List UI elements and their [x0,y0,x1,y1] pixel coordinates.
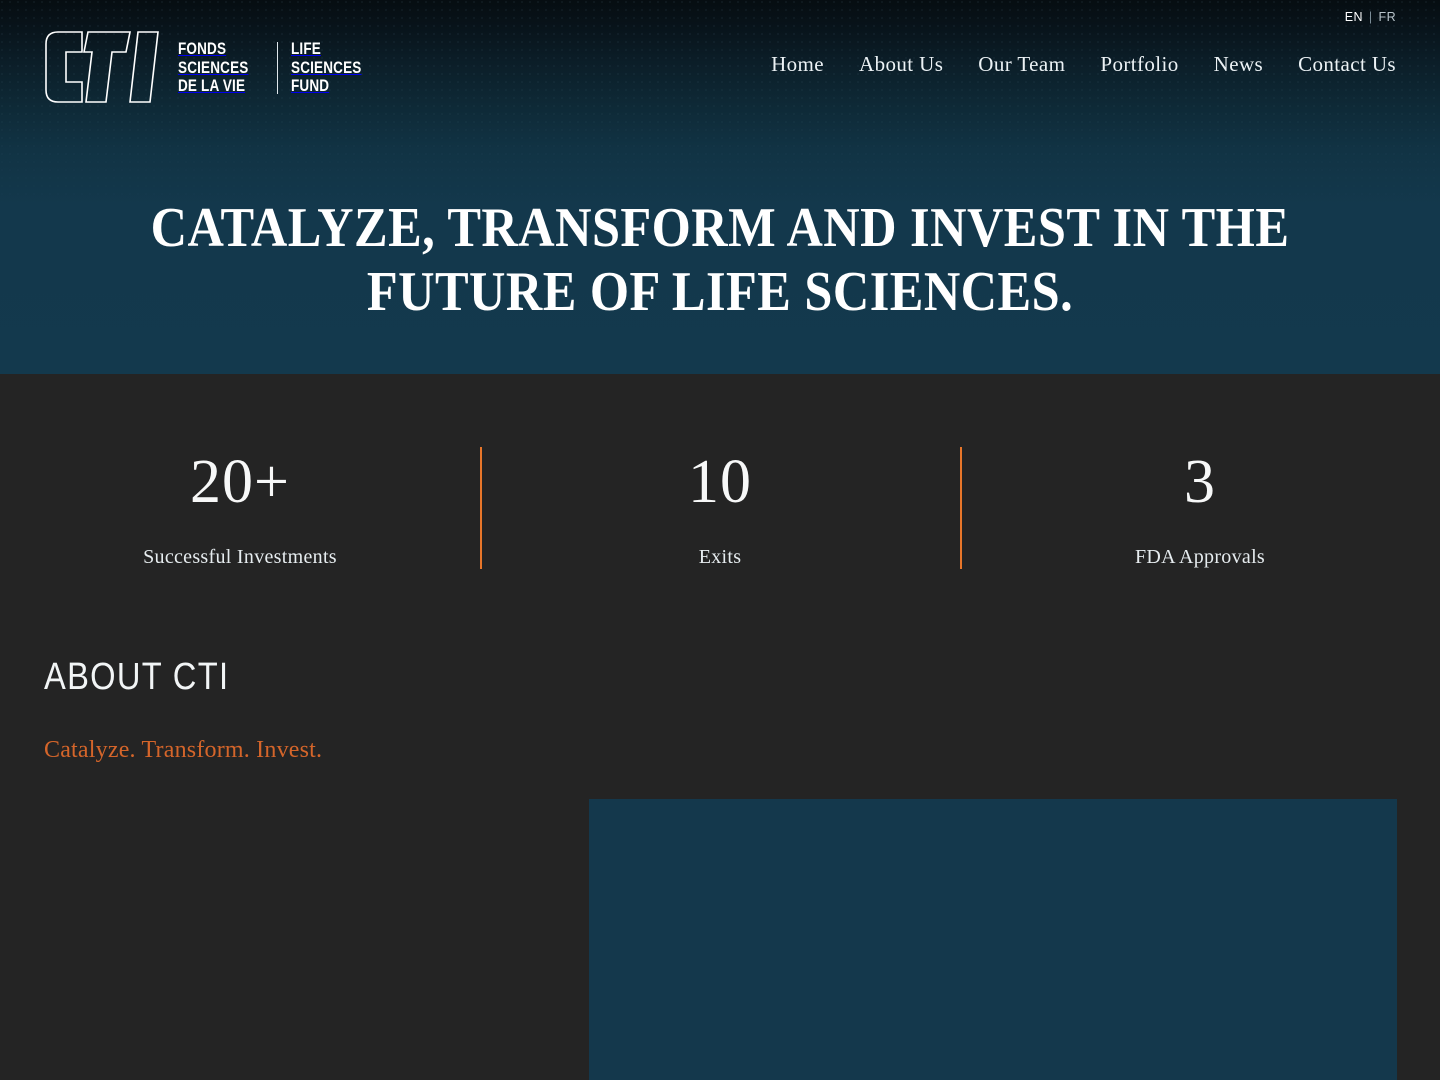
logo-en-line-3: FUND [291,77,361,95]
stat-item-exits: 10 Exits [480,447,960,569]
stat-item-fda-approvals: 3 FDA Approvals [960,447,1440,569]
nav-item-about-us[interactable]: About Us [859,52,943,77]
lang-option-fr[interactable]: FR [1379,10,1396,24]
nav-item-our-team[interactable]: Our Team [978,52,1065,77]
stat-value: 20+ [190,451,290,513]
language-switcher[interactable]: EN | FR [1345,10,1396,24]
logo-wordmark-fr: FONDS SCIENCES DE LA VIE [178,40,248,95]
logo-divider [277,42,278,93]
cti-outline-monogram-icon [44,30,166,104]
about-media-panel [589,799,1397,1080]
stat-value: 10 [688,451,752,513]
logo-wordmark-en: LIFE SCIENCES FUND [291,40,361,95]
lang-option-en[interactable]: EN [1345,10,1363,24]
logo-fr-line-3: DE LA VIE [178,77,248,95]
hero-headline: CATALYZE, TRANSFORM AND INVEST IN THE FU… [72,196,1368,324]
lang-separator: | [1369,10,1373,24]
stat-label: Successful Investments [143,546,337,569]
stats-section: 20+ Successful Investments 10 Exits 3 FD… [0,374,1440,642]
hero-section: EN | FR FONDS SCIENCES [0,0,1440,374]
about-heading: ABOUT CTI [44,658,229,696]
about-section: ABOUT CTI Catalyze. Transform. Invest. [0,642,1440,1080]
nav-item-portfolio[interactable]: Portfolio [1100,52,1178,77]
main-navigation: Home About Us Our Team Portfolio News Co… [771,52,1396,77]
page-root: EN | FR FONDS SCIENCES [0,0,1440,1080]
hero-headline-line-2: FUTURE OF LIFE SCIENCES. [72,260,1368,324]
about-tagline: Catalyze. Transform. Invest. [44,737,322,764]
logo-fr-line-2: SCIENCES [178,59,248,77]
logo-wordmark: FONDS SCIENCES DE LA VIE LIFE SCIENCES F… [178,40,377,95]
site-logo[interactable]: FONDS SCIENCES DE LA VIE LIFE SCIENCES F… [44,30,377,104]
stat-value: 3 [1184,451,1216,513]
logo-en-line-2: SCIENCES [291,59,361,77]
logo-fr-line-1: FONDS [178,40,248,58]
nav-item-contact-us[interactable]: Contact Us [1298,52,1396,77]
nav-item-home[interactable]: Home [771,52,824,77]
stat-label: Exits [699,546,742,569]
logo-en-line-1: LIFE [291,40,361,58]
nav-item-news[interactable]: News [1214,52,1263,77]
top-utility-bar: EN | FR [0,0,1440,34]
stat-item-successful-investments: 20+ Successful Investments [0,447,480,569]
stat-label: FDA Approvals [1135,546,1265,569]
hero-headline-line-1: CATALYZE, TRANSFORM AND INVEST IN THE [72,196,1368,260]
